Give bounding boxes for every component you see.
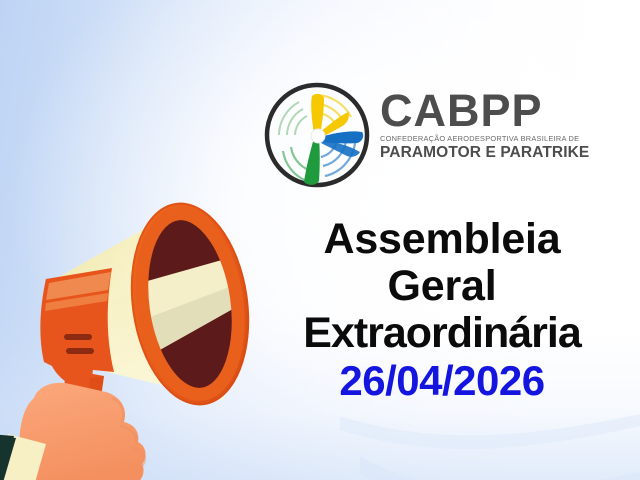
wordmark-text: CABPP	[380, 90, 562, 131]
megaphone-vent-2	[66, 348, 94, 354]
megaphone-illustration	[0, 186, 260, 480]
megaphone-vent-1	[64, 334, 92, 340]
headline-line-2: Geral	[256, 265, 628, 308]
wordmark-subtitle-line2: PARAMOTOR E PARATRIKE	[380, 144, 562, 162]
headline-block: Assembleia Geral Extraordinária 26/04/20…	[256, 218, 628, 402]
cabpp-propeller-emblem	[262, 80, 372, 190]
poster-canvas: CABPP CONFEDERAÇÃO AERODESPORTIVA BRASIL…	[0, 0, 640, 480]
headline-line-1: Assembleia	[256, 218, 628, 261]
megaphone-bell	[118, 195, 260, 413]
headline-line-3: Extraordinária	[256, 312, 628, 355]
event-date: 26/04/2026	[256, 360, 628, 402]
cabpp-wordmark: CABPP CONFEDERAÇÃO AERODESPORTIVA BRASIL…	[380, 90, 562, 162]
cabpp-logo: CABPP CONFEDERAÇÃO AERODESPORTIVA BRASIL…	[262, 80, 562, 192]
emblem-blade-green	[304, 138, 320, 185]
